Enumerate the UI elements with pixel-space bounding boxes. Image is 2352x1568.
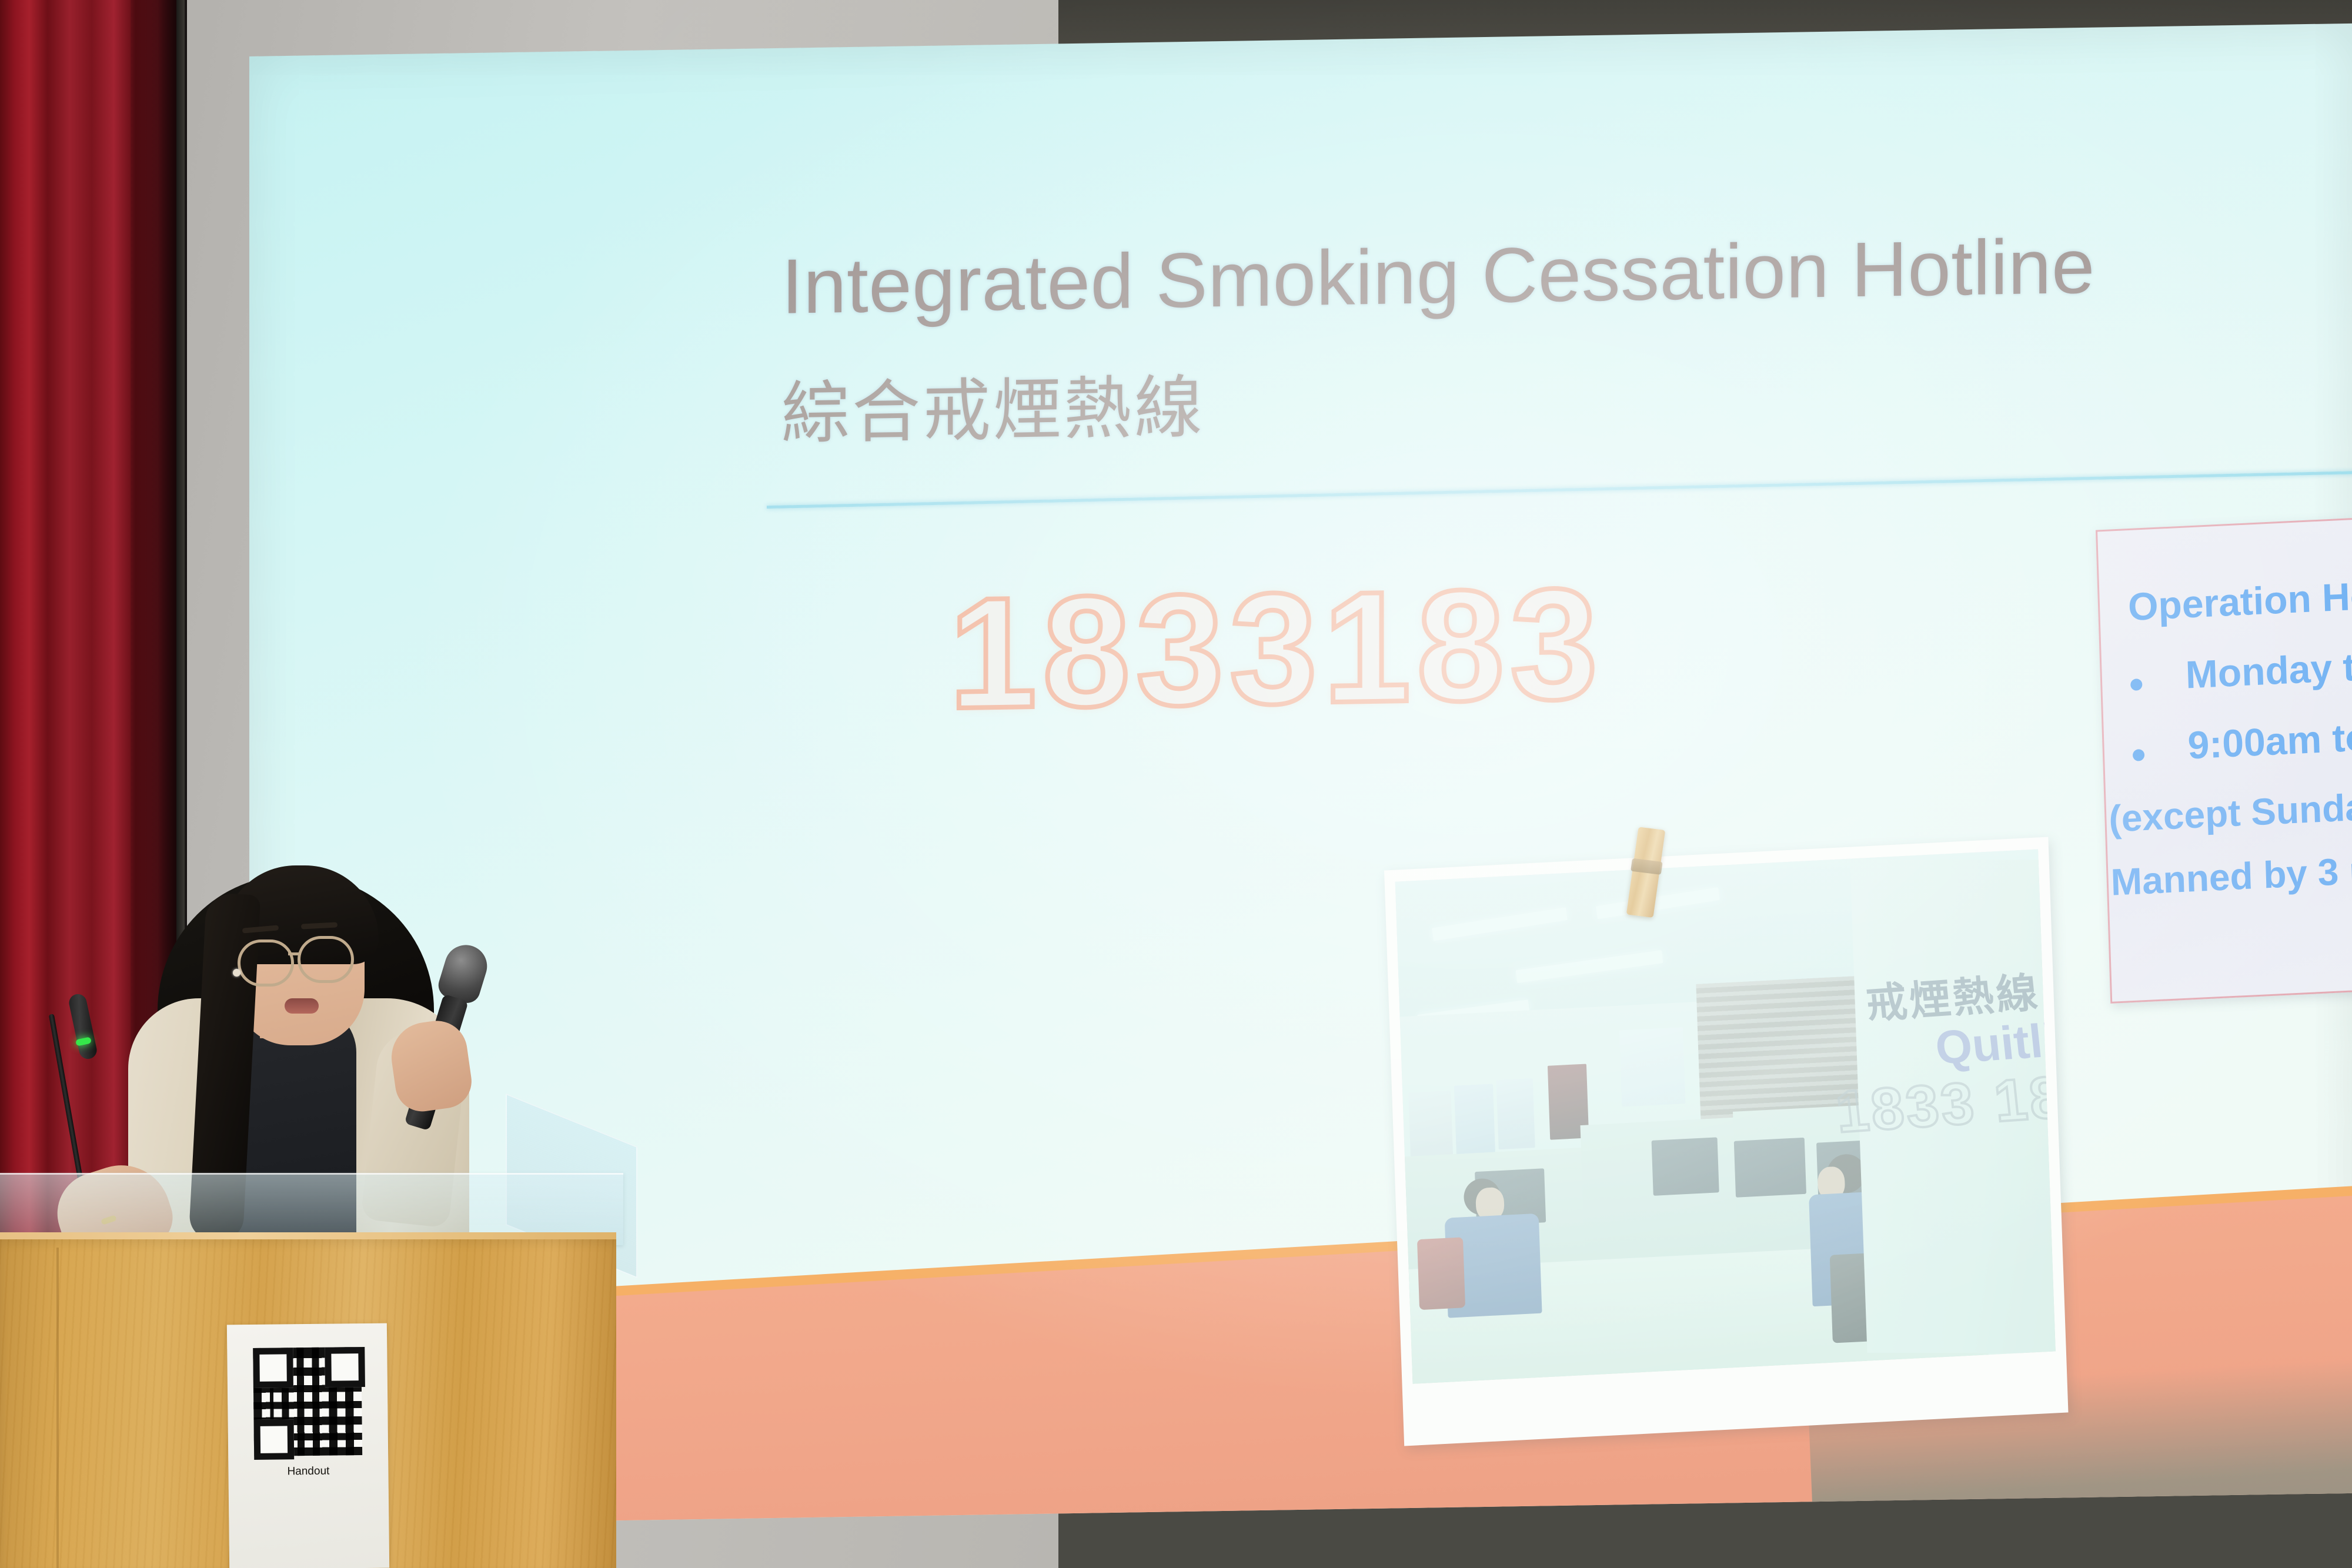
photo-poster-chart <box>1619 1027 1685 1106</box>
podium-panel-seam <box>56 1248 59 1568</box>
glasses-icon <box>238 940 294 987</box>
photo-caption-number: 1833 18 <box>1832 1064 2056 1146</box>
qr-finder-pattern <box>325 1347 365 1388</box>
photo-poster <box>1454 1084 1495 1159</box>
handout-qr-poster[interactable]: Handout <box>227 1323 389 1568</box>
photo-poster <box>1496 1078 1535 1149</box>
operation-hours-card: Operation Hours: Monday to Friday 9:00am… <box>2096 502 2352 1004</box>
operation-hours-bullet-2: 9:00am to 5:45pm <box>2131 698 2352 770</box>
slide-title-english: Integrated Smoking Cessation Hotline <box>781 222 2095 331</box>
qr-code-label: Handout <box>228 1465 388 1479</box>
glasses-icon <box>298 936 354 983</box>
photo-poster <box>1408 1091 1453 1164</box>
photo-wall-pillar: 戒煙熱線 Quitli 1833 18 <box>1850 860 2056 1353</box>
glasses-bridge <box>288 952 299 955</box>
operation-hours-bullet-2-text: 9:00am to 5:45pm <box>2187 707 2352 767</box>
callcentre-photo: 戒煙熱線 Quitli 1833 18 <box>1395 849 2056 1383</box>
operation-hours-bullet-1: Monday to Friday <box>2130 627 2352 700</box>
qr-finder-pattern <box>253 1348 293 1388</box>
hotline-number: 1833183 <box>949 553 1603 744</box>
title-divider-line <box>767 466 2352 509</box>
earring-icon <box>233 969 240 977</box>
callcentre-photo-frame: 戒煙熱線 Quitli 1833 18 <box>1384 837 2069 1446</box>
operation-hours-exception-note: (except Sundays and pub <box>2108 768 2352 841</box>
operation-hours-heading: Operation Hours: <box>2127 557 2352 629</box>
speaker-mouth <box>285 998 319 1014</box>
photo-chair-red <box>1417 1237 1465 1310</box>
bullet-dot-icon <box>2133 749 2145 761</box>
screenshot-stage: Integrated Smoking Cessation Hotline 綜合戒… <box>0 0 2352 1568</box>
operation-hours-staffing-note: Manned by 3 registered <box>2110 832 2352 904</box>
bullet-dot-icon <box>2130 678 2143 691</box>
slide-title-chinese: 綜合戒煙熱線 <box>781 352 1205 457</box>
photo-monitor <box>1734 1138 1806 1198</box>
photo-monitor <box>1652 1137 1719 1196</box>
qr-finder-pattern <box>254 1419 295 1460</box>
operation-hours-bullet-1-text: Monday to Friday <box>2185 637 2352 697</box>
